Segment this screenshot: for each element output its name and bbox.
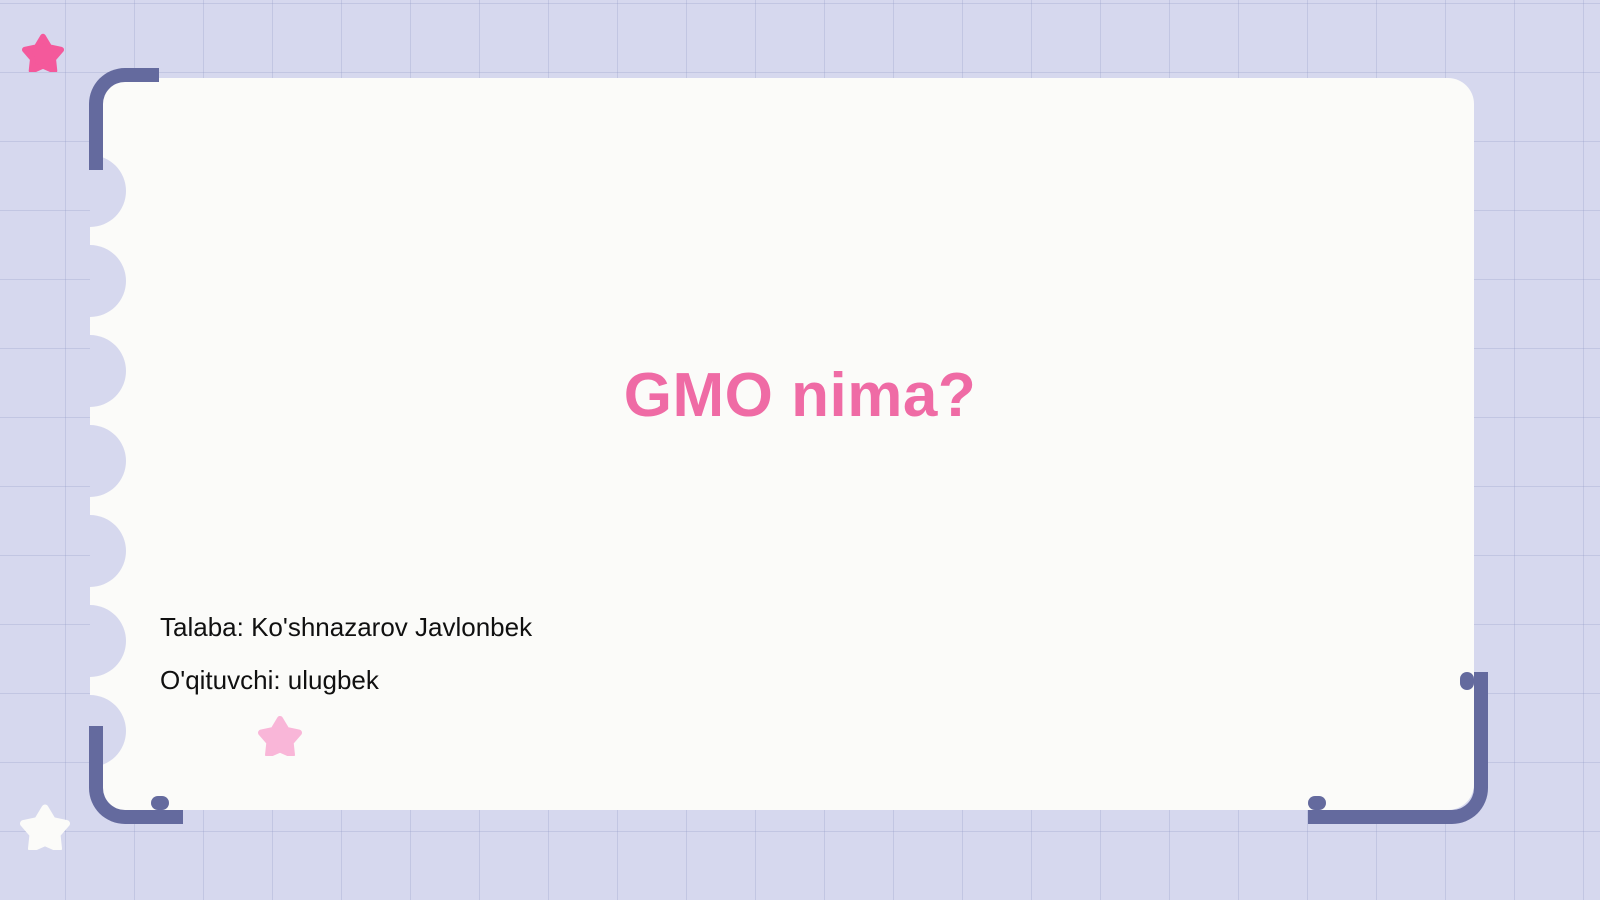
star-icon [22,30,64,72]
bracket-top-left-cap-2 [89,138,103,156]
bracket-bottom-left-cap [89,726,103,744]
star-icon [20,800,70,850]
bracket-bottom-right-cap [1460,672,1474,690]
page-title: GMO nima? [0,360,1600,431]
bracket-bottom-left-cap-2 [151,796,169,810]
teacher-name-line: O'qituvchi: ulugbek [160,665,379,696]
bracket-top-left-cap [127,68,145,82]
presentation-slide: GMO nima? Talaba: Ko'shnazarov Javlonbek… [0,0,1600,900]
student-name-line: Talaba: Ko'shnazarov Javlonbek [160,612,532,643]
bracket-bottom-right-icon [1308,672,1488,824]
slide-card [90,78,1474,810]
star-icon [258,712,302,756]
bracket-bottom-right-cap-2 [1308,796,1326,810]
bracket-bottom-left-icon [89,726,183,824]
